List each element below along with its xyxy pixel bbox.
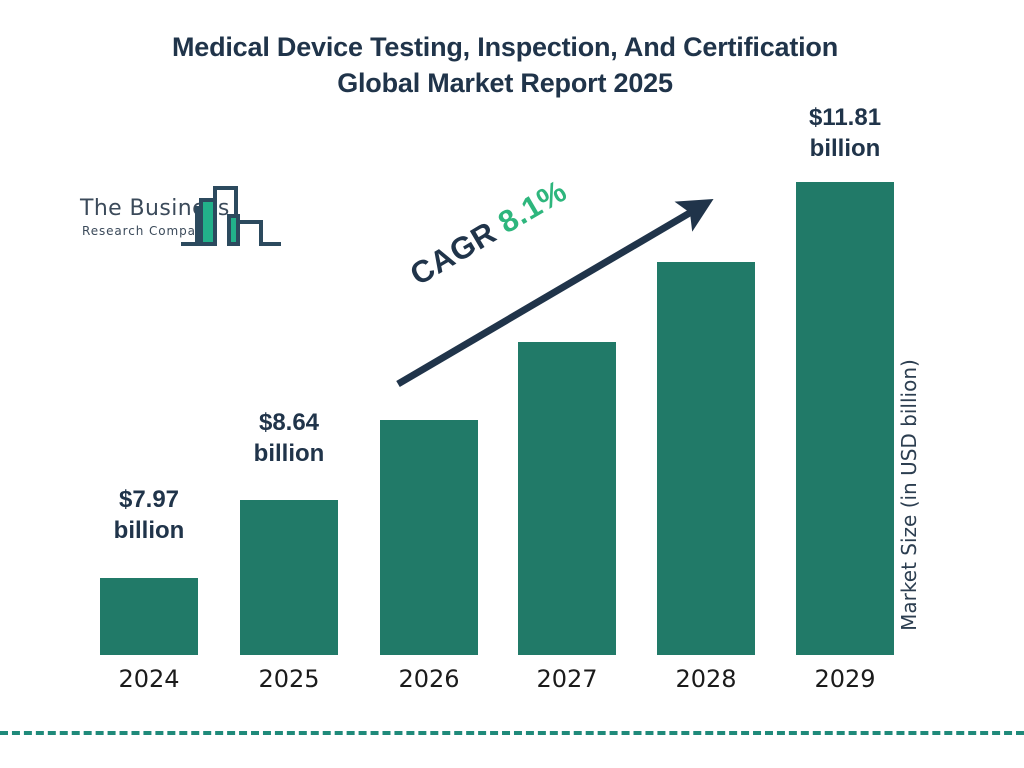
chart-canvas: Medical Device Testing, Inspection, And …: [0, 0, 1024, 768]
cagr-word-label: CAGR: [404, 210, 510, 292]
plot-area: $7.97 billion $8.64 billion $11.81 billi…: [0, 0, 1024, 768]
bar-2024[interactable]: [100, 578, 198, 655]
x-tick-2029: 2029: [796, 665, 894, 693]
bar-value-label-2029: $11.81 billion: [766, 103, 924, 164]
x-tick-2028: 2028: [657, 665, 755, 693]
x-tick-2025: 2025: [240, 665, 338, 693]
bar-value-label-2025: $8.64 billion: [210, 408, 368, 469]
x-tick-2026: 2026: [380, 665, 478, 693]
x-tick-2024: 2024: [100, 665, 198, 693]
bar-2026[interactable]: [380, 420, 478, 655]
x-tick-2027: 2027: [518, 665, 616, 693]
footer-divider: [0, 731, 1024, 735]
bar-2025[interactable]: [240, 500, 338, 655]
cagr-value-label: 8.1%: [492, 173, 572, 240]
bar-2027[interactable]: [518, 342, 616, 655]
bar-value-label-2024: $7.97 billion: [70, 485, 228, 546]
bar-2028[interactable]: [657, 262, 755, 655]
y-axis-title: Market Size (in USD billion): [897, 330, 931, 660]
cagr-annotation: CAGR 8.1%: [404, 173, 573, 293]
bar-2029[interactable]: [796, 182, 894, 655]
